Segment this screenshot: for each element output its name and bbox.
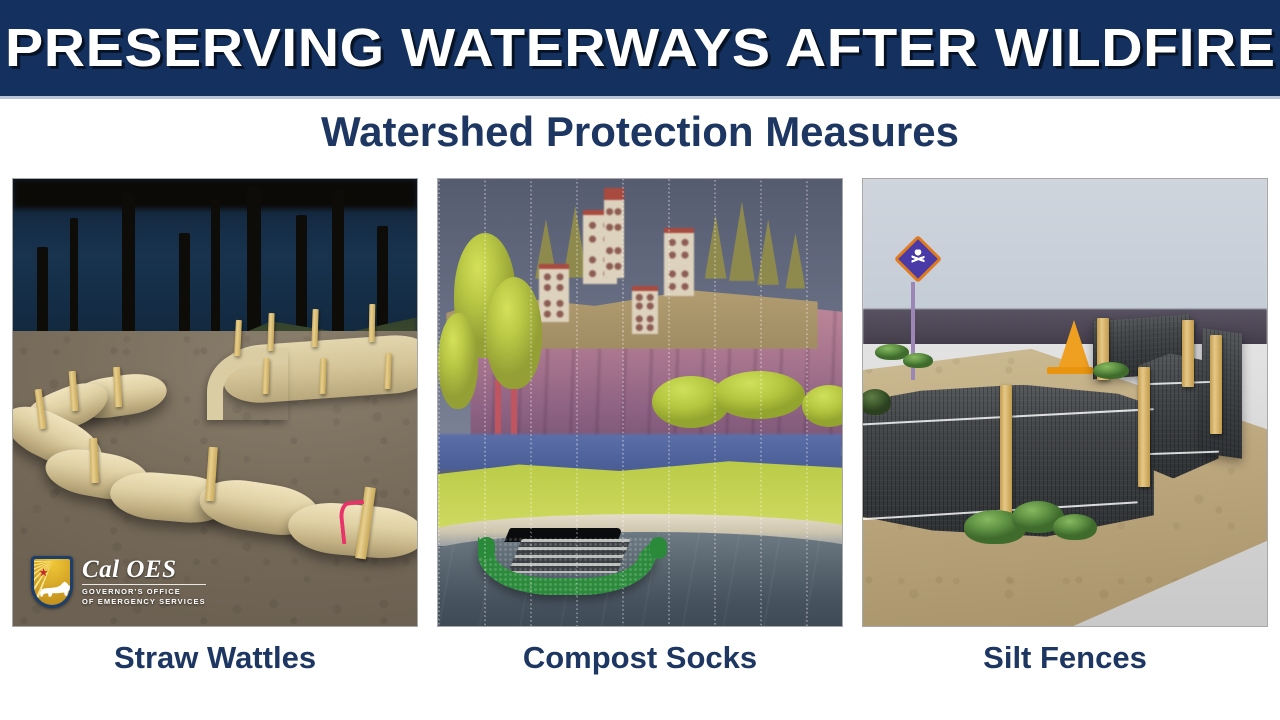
panel-straw-wattles: Cal OES GOVERNOR'S OFFICE OF EMERGENCY S… (12, 178, 418, 627)
hillside-tower (604, 188, 624, 278)
wooden-stake (384, 353, 391, 389)
panel-compost-socks: Compost Socks (437, 178, 843, 627)
cal-oes-logo: Cal OES GOVERNOR'S OFFICE OF EMERGENCY S… (31, 556, 206, 608)
logo-name: Cal OES (82, 557, 206, 582)
river-water (438, 434, 842, 470)
header-banner: PRESERVING WATERWAYS AFTER WILDFIRE (0, 0, 1280, 96)
traffic-cone-base (1047, 367, 1093, 374)
compost-sock-arm (650, 537, 667, 559)
infographic-page: PRESERVING WATERWAYS AFTER WILDFIRE Wate… (0, 0, 1280, 720)
deciduous-tree (438, 313, 478, 409)
logo-subtitle-line2: OF EMERGENCY SERVICES (82, 597, 206, 607)
panel-silt-fences: Silt Fences (862, 178, 1268, 627)
hillside-building (632, 286, 658, 334)
fence-post (1182, 320, 1194, 387)
caption-compost-socks: Compost Socks (437, 640, 843, 676)
header-divider (0, 96, 1280, 99)
page-title: PRESERVING WATERWAYS AFTER WILDFIRE (5, 17, 1276, 79)
logo-subtitle-line1: GOVERNOR'S OFFICE (82, 587, 206, 597)
hillside-building (539, 264, 569, 322)
shield-inner (34, 559, 70, 605)
illustration-compost-socks (437, 178, 843, 627)
logo-wordmark: Cal OES GOVERNOR'S OFFICE OF EMERGENCY S… (82, 557, 206, 606)
logo-divider (82, 584, 206, 585)
compost-sock-arm (478, 537, 495, 559)
illustration-straw-wattles: Cal OES GOVERNOR'S OFFICE OF EMERGENCY S… (12, 178, 418, 627)
wooden-stake (89, 438, 99, 483)
hillside-building (664, 228, 694, 296)
illustration-silt-fences (862, 178, 1268, 627)
shrub (1093, 362, 1129, 379)
shrub (1053, 514, 1097, 540)
caption-silt-fences: Silt Fences (862, 640, 1268, 676)
pink-flagging-ribbon (338, 500, 368, 544)
shrub (713, 371, 805, 419)
shrub (862, 389, 891, 415)
traffic-cone-icon (1057, 320, 1091, 372)
deciduous-tree (486, 277, 542, 389)
wooden-stake (368, 304, 375, 342)
caption-straw-wattles: Straw Wattles (12, 640, 418, 676)
wooden-stake (267, 313, 274, 351)
wooden-stake (319, 358, 326, 394)
shrub (903, 353, 933, 368)
subtitle: Watershed Protection Measures (0, 108, 1280, 156)
wooden-stake (311, 309, 318, 347)
pedestrian-figure-icon (912, 249, 925, 268)
silt-fence-end-run (1202, 328, 1242, 459)
fence-post (1000, 385, 1012, 519)
panel-row: Cal OES GOVERNOR'S OFFICE OF EMERGENCY S… (12, 178, 1268, 627)
fence-post (1138, 367, 1150, 488)
fence-post (1210, 335, 1222, 433)
shield-icon (31, 556, 73, 608)
